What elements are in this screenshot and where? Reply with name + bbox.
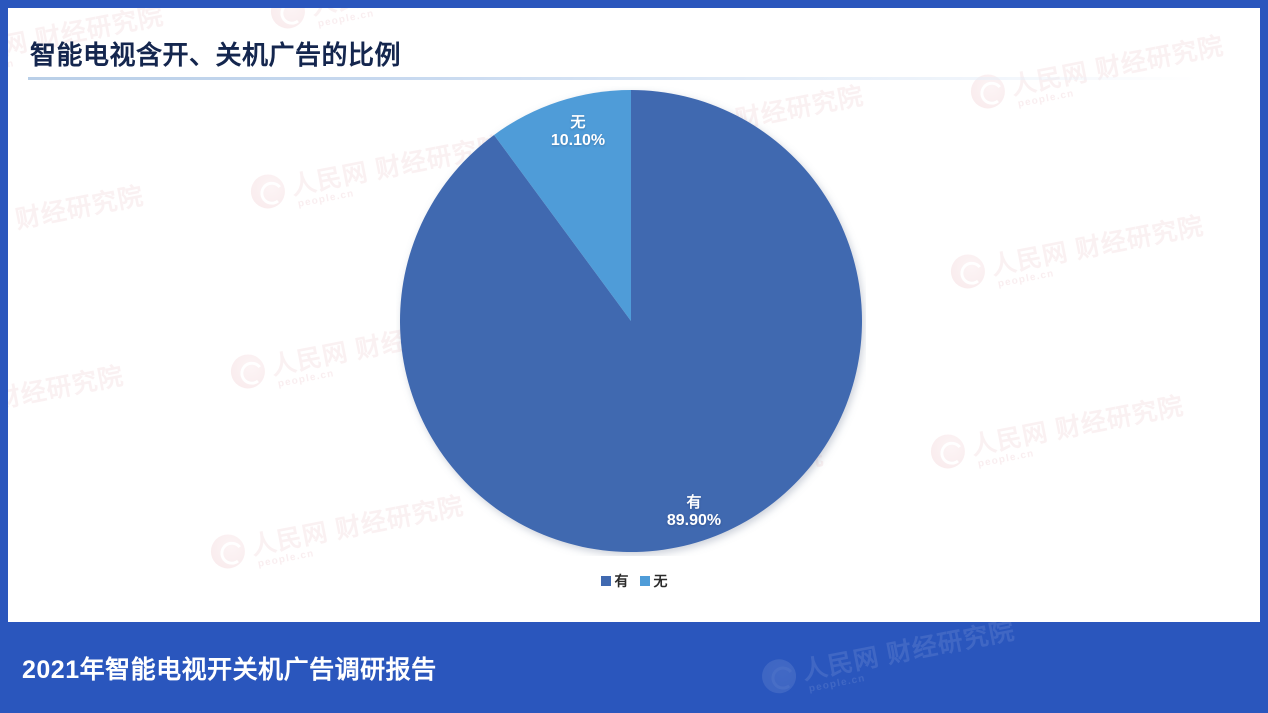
legend-swatch-wu-icon	[640, 576, 650, 586]
legend-label-you: 有	[615, 574, 629, 588]
slide-content-card: 人民网 财经研究院 people.cn 人民网 财经研究院 people.cn …	[8, 8, 1260, 622]
pie-label-you-category: 有	[634, 494, 754, 512]
footer-watermark: 人民网 财经研究院 people.cn	[759, 622, 1018, 696]
title-divider	[28, 77, 1198, 80]
legend-label-wu: 无	[654, 574, 668, 588]
watermark-text: 人民网 财经研究院	[800, 622, 1017, 684]
legend-item-wu[interactable]: 无	[640, 574, 668, 588]
chart-legend: 有 无	[8, 574, 1260, 588]
slide: 人民网 财经研究院 people.cn 人民网 财经研究院 people.cn …	[0, 0, 1268, 713]
footer-title: 2021年智能电视开关机广告调研报告	[22, 650, 437, 686]
pie-svg	[396, 86, 866, 556]
people-cn-logo-icon	[759, 656, 799, 696]
page-title: 智能电视含开、关机广告的比例	[30, 35, 401, 72]
footer-bar: 人民网 财经研究院 people.cn 2021年智能电视开关机广告调研报告	[0, 622, 1268, 713]
pie-label-you: 有 89.90%	[634, 494, 754, 531]
legend-item-you[interactable]: 有	[601, 574, 629, 588]
pie-label-you-value: 89.90%	[634, 512, 754, 531]
pie-chart: 无 10.10% 有 89.90% 有 无	[8, 8, 1260, 622]
pie-label-wu-category: 无	[518, 114, 638, 132]
pie-label-wu-value: 10.10%	[518, 132, 638, 151]
pie-label-wu: 无 10.10%	[518, 114, 638, 151]
pie-graphic	[396, 86, 866, 556]
legend-swatch-you-icon	[601, 576, 611, 586]
